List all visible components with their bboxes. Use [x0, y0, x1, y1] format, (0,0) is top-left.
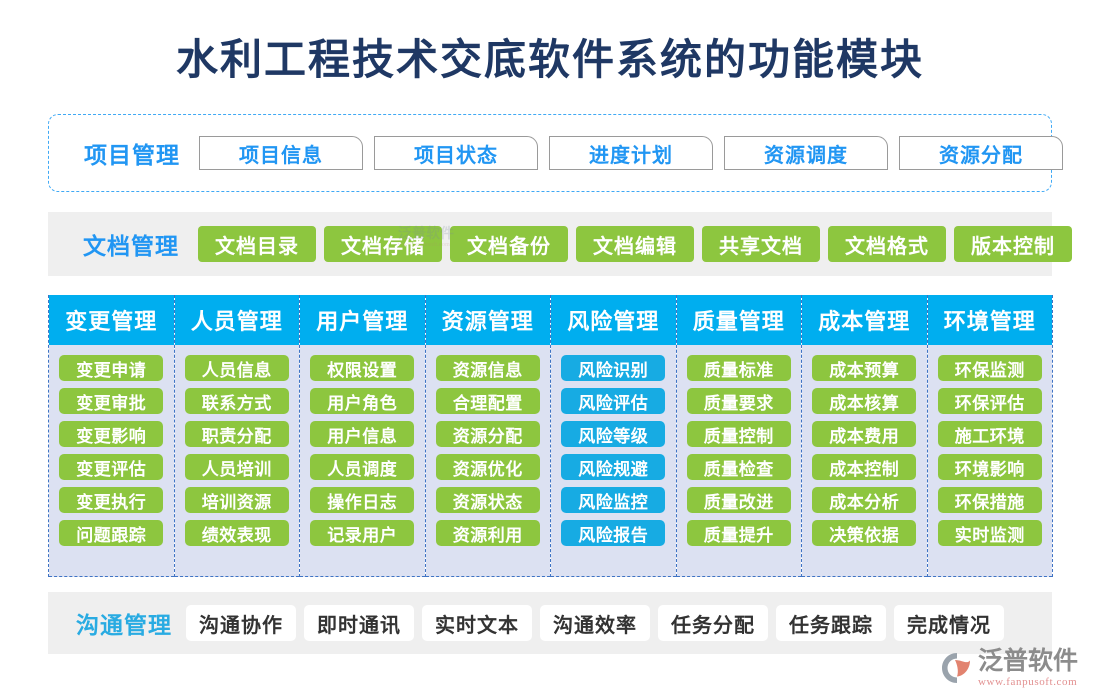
grid-item-cost-3[interactable]: 成本控制 [812, 454, 916, 480]
grid-item-cost-2[interactable]: 成本费用 [812, 421, 916, 447]
section-document-management: 文档管理 文档目录 文档存储 文档备份 文档编辑 共享文档 文档格式 版本控制 [48, 212, 1052, 276]
grid-item-personnel-0[interactable]: 人员信息 [185, 355, 289, 381]
grid-item-quality-5[interactable]: 质量提升 [687, 520, 791, 546]
project-item-4[interactable]: 资源分配 [899, 136, 1063, 170]
module-grid: 变更管理 变更申请 变更审批 变更影响 变更评估 变更执行 问题跟踪 人员管理 … [48, 295, 1052, 577]
grid-item-risk-3[interactable]: 风险规避 [561, 454, 665, 480]
column-body-environment-management: 环保监测 环保评估 施工环境 环境影响 环保措施 实时监测 [928, 345, 1053, 577]
grid-item-resource-4[interactable]: 资源状态 [436, 487, 540, 513]
grid-item-resource-3[interactable]: 资源优化 [436, 454, 540, 480]
grid-item-quality-1[interactable]: 质量要求 [687, 388, 791, 414]
grid-item-resource-1[interactable]: 合理配置 [436, 388, 540, 414]
grid-item-user-1[interactable]: 用户角色 [310, 388, 414, 414]
column-body-risk-management: 风险识别 风险评估 风险等级 风险规避 风险监控 风险报告 [551, 345, 676, 577]
document-item-3[interactable]: 文档编辑 [576, 226, 694, 262]
grid-item-quality-2[interactable]: 质量控制 [687, 421, 791, 447]
logo-name: 泛普软件 [978, 649, 1078, 674]
section-label-communication-management: 沟通管理 [62, 606, 186, 640]
section-label-document-management: 文档管理 [64, 227, 198, 261]
grid-item-user-5[interactable]: 记录用户 [310, 520, 414, 546]
grid-column-user-management: 用户管理 权限设置 用户角色 用户信息 人员调度 操作日志 记录用户 [299, 295, 426, 577]
communication-item-5[interactable]: 任务跟踪 [776, 605, 886, 641]
column-body-quality-management: 质量标准 质量要求 质量控制 质量检查 质量改进 质量提升 [677, 345, 802, 577]
column-header-change-management: 变更管理 [49, 295, 174, 345]
grid-item-cost-1[interactable]: 成本核算 [812, 388, 916, 414]
column-header-user-management: 用户管理 [300, 295, 425, 345]
grid-item-risk-0[interactable]: 风险识别 [561, 355, 665, 381]
grid-item-quality-4[interactable]: 质量改进 [687, 487, 791, 513]
communication-item-2[interactable]: 实时文本 [422, 605, 532, 641]
grid-item-environment-5[interactable]: 实时监测 [938, 520, 1042, 546]
grid-item-resource-0[interactable]: 资源信息 [436, 355, 540, 381]
grid-item-user-2[interactable]: 用户信息 [310, 421, 414, 447]
grid-item-change-4[interactable]: 变更执行 [59, 487, 163, 513]
grid-item-cost-4[interactable]: 成本分析 [812, 487, 916, 513]
grid-item-user-0[interactable]: 权限设置 [310, 355, 414, 381]
grid-item-personnel-1[interactable]: 联系方式 [185, 388, 289, 414]
grid-item-quality-0[interactable]: 质量标准 [687, 355, 791, 381]
document-item-2[interactable]: 文档备份 [450, 226, 568, 262]
document-item-6[interactable]: 版本控制 [954, 226, 1072, 262]
grid-item-resource-2[interactable]: 资源分配 [436, 421, 540, 447]
project-item-2[interactable]: 进度计划 [549, 136, 713, 170]
grid-item-environment-1[interactable]: 环保评估 [938, 388, 1042, 414]
grid-item-risk-5[interactable]: 风险报告 [561, 520, 665, 546]
grid-item-change-2[interactable]: 变更影响 [59, 421, 163, 447]
grid-item-change-3[interactable]: 变更评估 [59, 454, 163, 480]
grid-item-user-3[interactable]: 人员调度 [310, 454, 414, 480]
grid-item-cost-5[interactable]: 决策依据 [812, 520, 916, 546]
grid-item-user-4[interactable]: 操作日志 [310, 487, 414, 513]
communication-item-0[interactable]: 沟通协作 [186, 605, 296, 641]
column-header-cost-management: 成本管理 [802, 295, 927, 345]
grid-item-change-1[interactable]: 变更审批 [59, 388, 163, 414]
document-management-items: 文档目录 文档存储 文档备份 文档编辑 共享文档 文档格式 版本控制 [198, 226, 1072, 262]
project-item-3[interactable]: 资源调度 [724, 136, 888, 170]
project-management-items: 项目信息 项目状态 进度计划 资源调度 资源分配 [199, 136, 1063, 170]
fanpu-logo-icon [940, 651, 974, 685]
grid-item-environment-4[interactable]: 环保措施 [938, 487, 1042, 513]
page-title: 水利工程技术交底软件系统的功能模块 [0, 38, 1100, 84]
grid-item-risk-2[interactable]: 风险等级 [561, 421, 665, 447]
diagram-canvas: 水利工程技术交底软件系统的功能模块 项目管理 项目信息 项目状态 进度计划 资源… [0, 0, 1100, 700]
grid-item-cost-0[interactable]: 成本预算 [812, 355, 916, 381]
logo-url: www.fanpusoft.com [978, 677, 1078, 688]
grid-item-change-5[interactable]: 问题跟踪 [59, 520, 163, 546]
section-project-management: 项目管理 项目信息 项目状态 进度计划 资源调度 资源分配 [48, 114, 1052, 192]
section-label-project-management: 项目管理 [65, 136, 199, 170]
grid-item-environment-3[interactable]: 环境影响 [938, 454, 1042, 480]
grid-column-environment-management: 环境管理 环保监测 环保评估 施工环境 环境影响 环保措施 实时监测 [927, 295, 1054, 577]
grid-item-change-0[interactable]: 变更申请 [59, 355, 163, 381]
grid-item-personnel-4[interactable]: 培训资源 [185, 487, 289, 513]
grid-item-environment-0[interactable]: 环保监测 [938, 355, 1042, 381]
grid-item-quality-3[interactable]: 质量检查 [687, 454, 791, 480]
grid-item-risk-4[interactable]: 风险监控 [561, 487, 665, 513]
grid-item-personnel-2[interactable]: 职责分配 [185, 421, 289, 447]
communication-item-6[interactable]: 完成情况 [894, 605, 1004, 641]
brand-logo: 泛普软件 www.fanpusoft.com [940, 644, 1092, 692]
grid-item-personnel-5[interactable]: 绩效表现 [185, 520, 289, 546]
column-body-resource-management: 资源信息 合理配置 资源分配 资源优化 资源状态 资源利用 [426, 345, 551, 577]
column-header-personnel-management: 人员管理 [175, 295, 300, 345]
document-item-4[interactable]: 共享文档 [702, 226, 820, 262]
column-body-user-management: 权限设置 用户角色 用户信息 人员调度 操作日志 记录用户 [300, 345, 425, 577]
document-item-5[interactable]: 文档格式 [828, 226, 946, 262]
grid-column-quality-management: 质量管理 质量标准 质量要求 质量控制 质量检查 质量改进 质量提升 [676, 295, 803, 577]
column-header-resource-management: 资源管理 [426, 295, 551, 345]
logo-text-wrap: 泛普软件 www.fanpusoft.com [978, 649, 1078, 688]
grid-column-risk-management: 风险管理 风险识别 风险评估 风险等级 风险规避 风险监控 风险报告 [550, 295, 677, 577]
column-body-personnel-management: 人员信息 联系方式 职责分配 人员培训 培训资源 绩效表现 [175, 345, 300, 577]
column-header-risk-management: 风险管理 [551, 295, 676, 345]
grid-item-risk-1[interactable]: 风险评估 [561, 388, 665, 414]
communication-management-items: 沟通协作 即时通讯 实时文本 沟通效率 任务分配 任务跟踪 完成情况 [186, 605, 1004, 641]
grid-item-resource-5[interactable]: 资源利用 [436, 520, 540, 546]
communication-item-4[interactable]: 任务分配 [658, 605, 768, 641]
communication-item-1[interactable]: 即时通讯 [304, 605, 414, 641]
document-item-1[interactable]: 文档存储 [324, 226, 442, 262]
grid-column-personnel-management: 人员管理 人员信息 联系方式 职责分配 人员培训 培训资源 绩效表现 [174, 295, 301, 577]
grid-item-environment-2[interactable]: 施工环境 [938, 421, 1042, 447]
column-header-quality-management: 质量管理 [677, 295, 802, 345]
grid-item-personnel-3[interactable]: 人员培训 [185, 454, 289, 480]
column-body-cost-management: 成本预算 成本核算 成本费用 成本控制 成本分析 决策依据 [802, 345, 927, 577]
section-communication-management: 沟通管理 沟通协作 即时通讯 实时文本 沟通效率 任务分配 任务跟踪 完成情况 [48, 592, 1052, 654]
grid-column-cost-management: 成本管理 成本预算 成本核算 成本费用 成本控制 成本分析 决策依据 [801, 295, 928, 577]
grid-column-change-management: 变更管理 变更申请 变更审批 变更影响 变更评估 变更执行 问题跟踪 [48, 295, 175, 577]
column-body-change-management: 变更申请 变更审批 变更影响 变更评估 变更执行 问题跟踪 [49, 345, 174, 577]
grid-column-resource-management: 资源管理 资源信息 合理配置 资源分配 资源优化 资源状态 资源利用 [425, 295, 552, 577]
communication-item-3[interactable]: 沟通效率 [540, 605, 650, 641]
column-header-environment-management: 环境管理 [928, 295, 1053, 345]
document-item-0[interactable]: 文档目录 [198, 226, 316, 262]
project-item-1[interactable]: 项目状态 [374, 136, 538, 170]
project-item-0[interactable]: 项目信息 [199, 136, 363, 170]
